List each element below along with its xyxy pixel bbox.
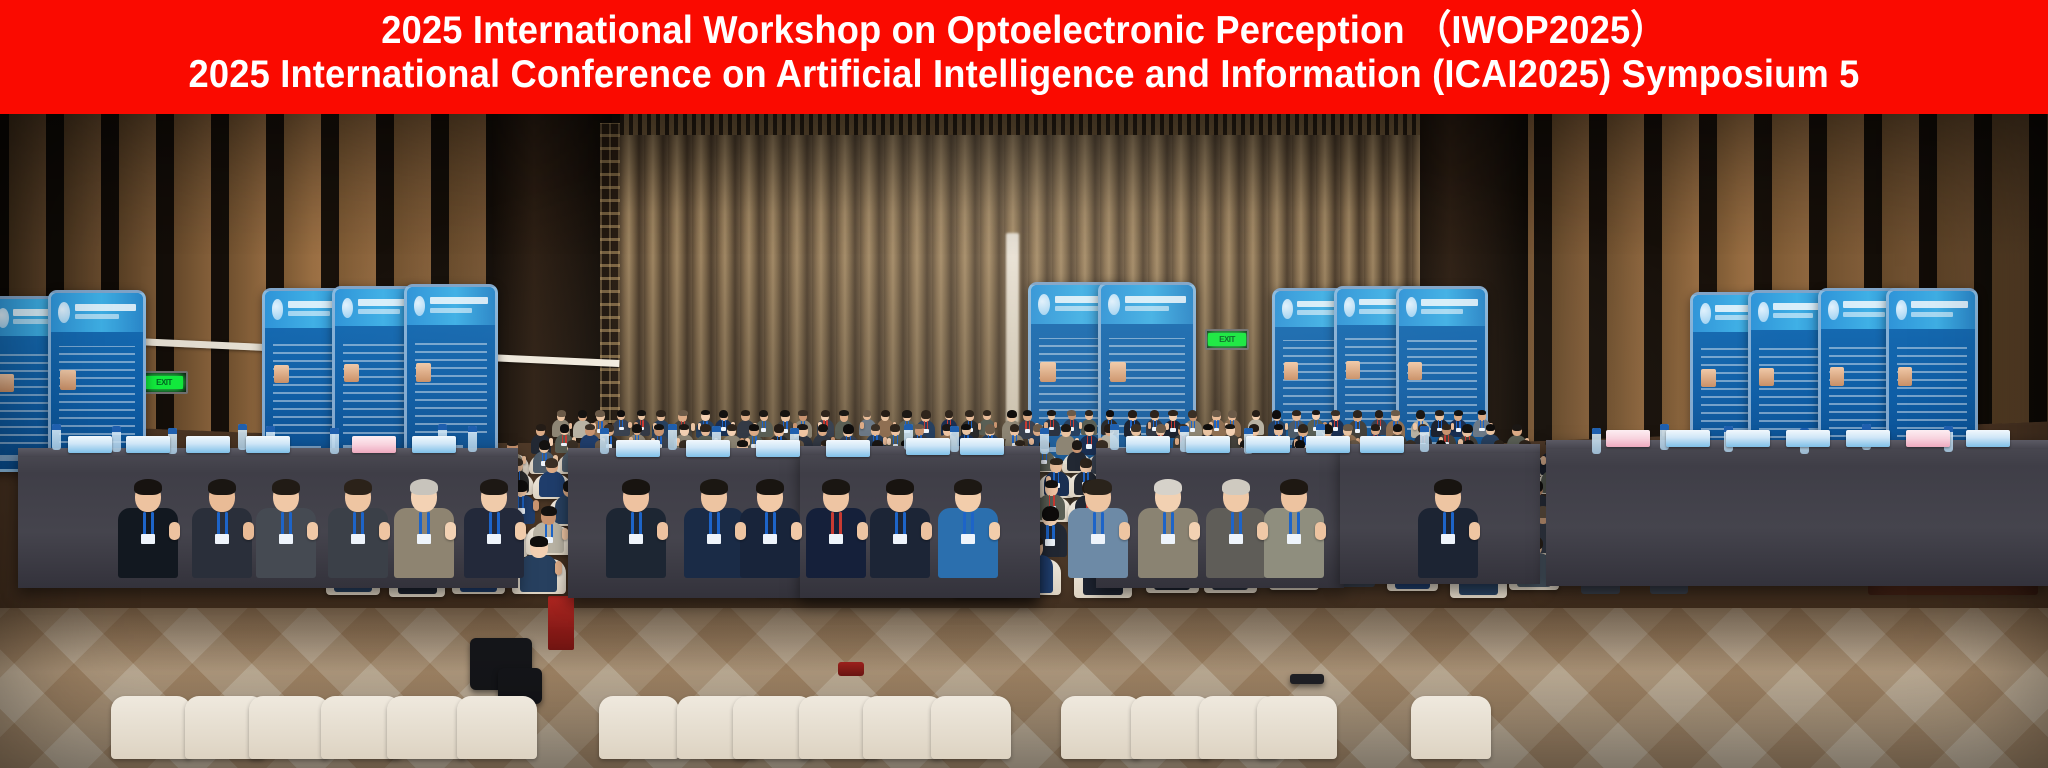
thumbs-up-hand	[1451, 423, 1455, 430]
banquet-chair	[111, 696, 191, 759]
attendee-hair	[749, 424, 759, 430]
rollup-banner-detail	[1344, 297, 1355, 317]
attendee-hair	[843, 424, 854, 434]
front-row-hair	[272, 479, 300, 495]
attendee-hair	[654, 424, 664, 430]
name-placard	[960, 438, 1004, 455]
attendee-hair	[1371, 424, 1380, 431]
front-row-badge	[763, 534, 777, 544]
front-row-lanyard	[1163, 512, 1166, 536]
attendee-hair	[1067, 410, 1076, 415]
rollup-banner-detail	[358, 309, 400, 314]
front-row-lanyard	[717, 512, 720, 536]
front-row-lanyard	[1171, 512, 1174, 536]
attendee-body	[539, 471, 565, 497]
attendee-hair	[632, 424, 641, 433]
attendee-badge	[1049, 427, 1054, 430]
attendee-hair	[839, 410, 849, 416]
attendee-badge	[1355, 429, 1361, 433]
thumbs-up-hand	[379, 522, 390, 540]
attendee-hair	[1203, 424, 1213, 430]
front-row-lanyard	[497, 512, 500, 536]
rollup-banner-detail	[274, 365, 289, 383]
rollup-banner-detail	[1828, 300, 1839, 321]
attendee-hair	[1047, 410, 1056, 416]
banner-title-line-2: 2025 International Conference on Artific…	[72, 52, 1977, 98]
water-bottle-cap	[330, 428, 339, 434]
thumbs-up-hand	[1285, 423, 1289, 430]
name-placard	[906, 438, 950, 455]
thumbs-up-hand	[735, 522, 746, 540]
attendee-hair	[759, 410, 768, 417]
banquet-chair	[1061, 696, 1141, 759]
attendee-hair	[1061, 424, 1071, 432]
front-row-hair	[1222, 479, 1250, 495]
attendee-hair	[1298, 424, 1309, 433]
thumbs-up-hand	[1469, 522, 1480, 540]
front-row-lanyard	[217, 512, 220, 536]
attendee-hair	[1007, 410, 1017, 418]
attendee-hair	[679, 424, 689, 430]
attendee-hair	[1272, 410, 1281, 418]
thumbs-up-hand	[243, 522, 254, 540]
thumbs-up-hand	[860, 422, 863, 428]
rollup-banner-detail	[1282, 299, 1293, 318]
attendee-hair	[1416, 410, 1425, 418]
attendee-hair	[1080, 458, 1092, 467]
name-placard	[1246, 436, 1290, 453]
attendee-hair	[1168, 410, 1177, 416]
water-bottle-cap	[1316, 424, 1325, 430]
name-placard	[616, 440, 660, 457]
attendee-hair	[1353, 410, 1363, 418]
attendee-hair	[1010, 424, 1020, 432]
rollup-banner-detail	[1773, 313, 1813, 318]
water-bottle-cap	[468, 426, 477, 432]
attendee-hair	[863, 410, 872, 416]
thumbs-up-hand	[657, 522, 668, 540]
attendee-badge	[1041, 460, 1047, 464]
water-bottle-cap	[52, 424, 61, 430]
thumbs-up-hand	[555, 561, 563, 575]
banquet-chair	[457, 696, 537, 759]
rollup-banner-detail	[60, 370, 76, 389]
rollup-banner-detail	[1125, 296, 1186, 303]
attendee-badge	[761, 428, 766, 432]
attendee-hair	[780, 410, 790, 417]
attendee-badge	[1086, 444, 1092, 448]
front-row-hair	[344, 479, 372, 495]
attendee-hair	[617, 410, 626, 416]
thumbs-up-hand	[169, 522, 180, 540]
water-bottle-cap	[668, 424, 677, 430]
rollup-banner-detail	[1110, 362, 1126, 381]
thumbs-up-hand	[978, 423, 982, 430]
attendee-hair	[545, 458, 558, 468]
front-row-badge	[279, 534, 293, 544]
name-placard	[68, 436, 112, 453]
rollup-banner-detail	[1700, 303, 1711, 323]
thumbs-up-hand	[1413, 423, 1417, 430]
front-row-hair	[1280, 479, 1308, 495]
front-row-lanyard	[971, 512, 974, 536]
attendee-hair	[1085, 410, 1093, 416]
attendee-hair	[1343, 424, 1353, 431]
water-bottle-cap	[600, 428, 609, 434]
banquet-chair	[249, 696, 329, 759]
rollup-banner-detail	[1055, 306, 1099, 311]
front-row-badge	[141, 534, 155, 544]
front-row-badge	[629, 534, 643, 544]
water-bottle-cap	[438, 424, 447, 430]
attendee-hair	[507, 440, 518, 446]
attendee-hair	[1375, 410, 1383, 417]
front-row-hair	[700, 479, 728, 495]
thumbs-up-hand	[989, 522, 1000, 540]
attendee-hair	[1486, 424, 1495, 430]
rollup-banner-detail	[1284, 362, 1299, 380]
front-row-lanyard	[225, 512, 228, 536]
rollup-banner-detail	[1898, 367, 1913, 386]
attendee-hair	[1128, 410, 1137, 418]
name-placard	[1126, 436, 1170, 453]
attendee-hair	[983, 410, 991, 416]
attendee-hair	[1393, 424, 1402, 431]
exit-sign-label: EXIT	[156, 379, 172, 387]
rollup-banner-detail	[1408, 362, 1423, 380]
attendee-hair	[890, 424, 900, 431]
rollup-banner-detail	[430, 297, 488, 304]
front-row-hair	[822, 479, 850, 495]
attendee-hair	[921, 410, 931, 419]
rollup-banner-detail	[1421, 299, 1478, 306]
thumbs-up-hand	[1029, 438, 1033, 446]
front-row-hair	[410, 479, 438, 495]
front-row-hair	[480, 479, 508, 495]
front-row-badge	[1287, 534, 1301, 544]
rollup-banner-detail	[59, 346, 134, 443]
attendee-hair	[871, 424, 881, 431]
front-row-hair	[886, 479, 914, 495]
attendee-badge	[1456, 428, 1461, 432]
front-row-lanyard	[1443, 512, 1446, 536]
left-wood-pillar	[492, 113, 612, 443]
attendee-hair	[1435, 410, 1444, 415]
thumbs-up-hand	[791, 522, 802, 540]
attendee-hair	[557, 410, 566, 416]
red-gift-bag	[548, 596, 574, 650]
front-row-badge	[1229, 534, 1243, 544]
red-object-on-floor	[838, 662, 864, 676]
draped-table	[1546, 440, 2048, 586]
thumbs-up-hand	[921, 522, 932, 540]
water-bottle-cap	[1040, 428, 1049, 434]
front-row-hair	[208, 479, 236, 495]
front-row-badge	[1091, 534, 1105, 544]
front-row-lanyard	[427, 512, 430, 536]
thumbs-up-hand	[445, 522, 456, 540]
thumbs-up-hand	[533, 500, 539, 511]
attendee-hair	[656, 410, 666, 417]
front-row-badge	[351, 534, 365, 544]
front-row-hair	[1154, 479, 1182, 495]
thumbs-up-hand	[1119, 522, 1130, 540]
attendee-hair	[1212, 410, 1221, 416]
front-row-badge	[961, 534, 975, 544]
front-row-lanyard	[361, 512, 364, 536]
rollup-banner-detail	[416, 363, 431, 382]
banner-title-line-1: 2025 International Workshop on Optoelect…	[72, 8, 1977, 54]
front-row-lanyard	[1093, 512, 1096, 536]
rollup-banner-detail	[1297, 310, 1338, 315]
attendee-badge	[1333, 427, 1338, 431]
attendee-hair	[1442, 424, 1451, 429]
curtain-light-gap	[1006, 233, 1019, 423]
attendee-hair	[1454, 410, 1463, 416]
attendee-hair	[1084, 424, 1094, 432]
attendee-hair	[700, 424, 710, 432]
attendee-hair	[1150, 410, 1159, 418]
attendee-hair	[560, 424, 569, 432]
attendee-hair	[818, 424, 828, 432]
attendee-hair	[1050, 458, 1063, 465]
front-row-lanyard	[289, 512, 292, 536]
attendee-hair	[1331, 410, 1340, 416]
front-row-badge	[707, 534, 721, 544]
front-row-lanyard	[903, 512, 906, 536]
attendee-hair	[727, 424, 737, 431]
rollup-banner-detail	[1701, 369, 1715, 387]
front-row-hair	[134, 479, 162, 495]
front-row-lanyard	[773, 512, 776, 536]
front-row-lanyard	[419, 512, 422, 536]
thumbs-up-hand	[1257, 522, 1268, 540]
name-placard	[1906, 430, 1950, 447]
name-placard	[186, 436, 230, 453]
attendee-hair	[1512, 424, 1522, 431]
attendee-hair	[821, 410, 830, 417]
rollup-banner-detail	[1911, 301, 1968, 308]
front-row-lanyard	[353, 512, 356, 536]
attendee-body	[520, 555, 557, 592]
thumbs-up-hand	[857, 522, 868, 540]
front-row-badge	[215, 534, 229, 544]
rollup-banner-detail	[344, 364, 359, 383]
attendee-hair	[1023, 410, 1033, 416]
front-row-lanyard	[143, 512, 146, 536]
water-bottle-cap	[1180, 426, 1189, 432]
thumbs-up-hand	[549, 438, 553, 446]
attendee-hair	[1042, 506, 1059, 521]
front-row-lanyard	[1101, 512, 1104, 536]
rollup-banner-detail	[75, 314, 119, 319]
thumbs-up-hand	[628, 422, 631, 428]
thumbs-up-hand	[515, 522, 526, 540]
thumbs-up-hand	[1315, 522, 1326, 540]
rollup-banner-detail	[1758, 302, 1769, 322]
thumbs-up-hand	[1189, 522, 1200, 540]
attendee-hair	[530, 536, 549, 547]
attendee-hair	[1045, 480, 1058, 488]
front-row-lanyard	[639, 512, 642, 536]
rollup-banner-detail	[1421, 309, 1462, 314]
attendee-hair	[961, 424, 970, 430]
water-bottle-cap	[904, 424, 913, 430]
rollup-banner-detail	[75, 304, 136, 311]
thumbs-up-hand	[1175, 438, 1179, 445]
attendee-hair	[902, 410, 911, 417]
attendee-badge	[1479, 428, 1484, 432]
front-row-lanyard	[963, 512, 966, 536]
attendee-hair	[585, 424, 595, 430]
attendee-hair	[539, 440, 550, 450]
name-placard	[1360, 436, 1404, 453]
front-row-lanyard	[1231, 512, 1234, 536]
name-placard	[1606, 430, 1650, 447]
name-placard	[246, 436, 290, 453]
rollup-banner-detail	[1897, 343, 1968, 438]
attendee-hair	[741, 410, 750, 416]
name-placard	[1666, 430, 1710, 447]
name-placard	[1846, 430, 1890, 447]
name-placard	[412, 436, 456, 453]
curtain-rail	[620, 113, 1420, 135]
name-placard	[1966, 430, 2010, 447]
banquet-chair	[931, 696, 1011, 759]
water-bottle-cap	[1420, 426, 1429, 432]
water-bottle-cap	[1110, 424, 1119, 430]
attendee-hair	[1252, 410, 1260, 417]
rollup-banner-detail	[1040, 362, 1056, 381]
thumbs-up-hand	[1148, 422, 1152, 429]
attendee-hair	[881, 410, 890, 417]
front-row-lanyard	[895, 512, 898, 536]
front-row-lanyard	[765, 512, 768, 536]
attendee-hair	[1391, 410, 1400, 415]
conference-group-photo: EXIT EXIT EXIT	[0, 113, 2048, 768]
attendee-hair	[1228, 410, 1237, 417]
front-row-lanyard	[151, 512, 154, 536]
attendee-hair	[595, 410, 605, 417]
front-row-lanyard	[831, 512, 834, 536]
attendee-badge	[721, 427, 726, 431]
thumbs-up-hand	[307, 522, 318, 540]
attendee-hair	[678, 410, 688, 416]
rollup-banner-detail	[1759, 368, 1773, 387]
water-bottle-cap	[168, 428, 177, 434]
front-row-lanyard	[709, 512, 712, 536]
name-placard	[1786, 430, 1830, 447]
attendee-hair	[914, 424, 924, 429]
attendee-hair	[965, 410, 974, 417]
attendee-hair	[637, 410, 646, 416]
thumbs-up-hand	[1079, 422, 1082, 428]
exit-sign-icon: EXIT	[1205, 329, 1249, 350]
front-row-badge	[417, 534, 431, 544]
rollup-banner-detail	[288, 311, 330, 316]
front-row-lanyard	[839, 512, 842, 536]
attendee-hair	[798, 410, 807, 415]
thumbs-up-hand	[569, 423, 573, 430]
attendee-badge	[923, 429, 929, 433]
attendee-badge	[1170, 428, 1175, 432]
front-row-lanyard	[489, 512, 492, 536]
thumbs-up-hand	[1165, 423, 1169, 430]
attendee-badge	[1045, 539, 1055, 546]
name-placard	[826, 440, 870, 457]
attendee-hair	[774, 424, 785, 433]
front-row-badge	[893, 534, 907, 544]
attendee-hair	[1072, 440, 1082, 450]
attendee-hair	[1462, 424, 1473, 433]
water-bottle-cap	[238, 424, 247, 430]
name-placard	[126, 436, 170, 453]
attendee-hair	[737, 440, 749, 447]
rollup-banner-detail	[1830, 367, 1845, 386]
front-row-hair	[622, 479, 650, 495]
attendee-hair	[536, 424, 546, 430]
front-row-hair	[1434, 479, 1462, 495]
attendee-hair	[1312, 410, 1321, 415]
banquet-chair	[387, 696, 467, 759]
front-row-badge	[487, 534, 501, 544]
front-row-hair	[1084, 479, 1112, 495]
water-bottle-cap	[266, 426, 275, 432]
screenshot-root: 2025 International Workshop on Optoelect…	[0, 0, 2048, 768]
thumbs-up-hand	[887, 438, 891, 445]
attendee-hair	[701, 410, 710, 415]
front-row-badge	[829, 534, 843, 544]
attendee-hair	[541, 506, 557, 516]
name-placard	[1726, 430, 1770, 447]
rollup-banner-detail	[430, 308, 472, 313]
name-placard	[686, 440, 730, 457]
rollup-banner-detail	[1896, 300, 1907, 321]
attendee-badge	[1025, 429, 1031, 433]
name-placard	[756, 440, 800, 457]
attendee-hair	[1156, 424, 1166, 432]
water-bottle-cap	[1592, 428, 1601, 434]
water-bottle-cap	[950, 426, 959, 432]
rollup-banner-detail	[1359, 309, 1400, 314]
front-row-lanyard	[1297, 512, 1300, 536]
front-row-lanyard	[1289, 512, 1292, 536]
banquet-chair	[599, 696, 679, 759]
attendee-hair	[719, 410, 728, 418]
water-bottle-cap	[712, 426, 721, 432]
rollup-banner-detail	[1125, 306, 1169, 311]
name-placard	[1306, 436, 1350, 453]
water-bottle-cap	[790, 428, 799, 434]
front-row-hair	[954, 479, 982, 495]
title-banner: 2025 International Workshop on Optoelect…	[0, 0, 2048, 114]
front-row-badge	[1161, 534, 1175, 544]
front-row-lanyard	[1239, 512, 1242, 536]
water-bottle-cap	[1244, 428, 1253, 434]
front-row-lanyard	[631, 512, 634, 536]
exit-sign-icon: EXIT	[140, 371, 188, 394]
thumbs-up-hand	[691, 423, 695, 430]
name-placard	[1186, 436, 1230, 453]
front-row-hair	[756, 479, 784, 495]
attendee-badge	[619, 427, 624, 430]
attendee-badge	[1190, 428, 1195, 432]
rollup-banner-detail	[1843, 312, 1884, 317]
water-bottle-cap	[112, 426, 121, 432]
name-placard	[352, 436, 396, 453]
rollup-banner-detail	[0, 374, 14, 393]
attendee-badge	[1214, 428, 1219, 432]
